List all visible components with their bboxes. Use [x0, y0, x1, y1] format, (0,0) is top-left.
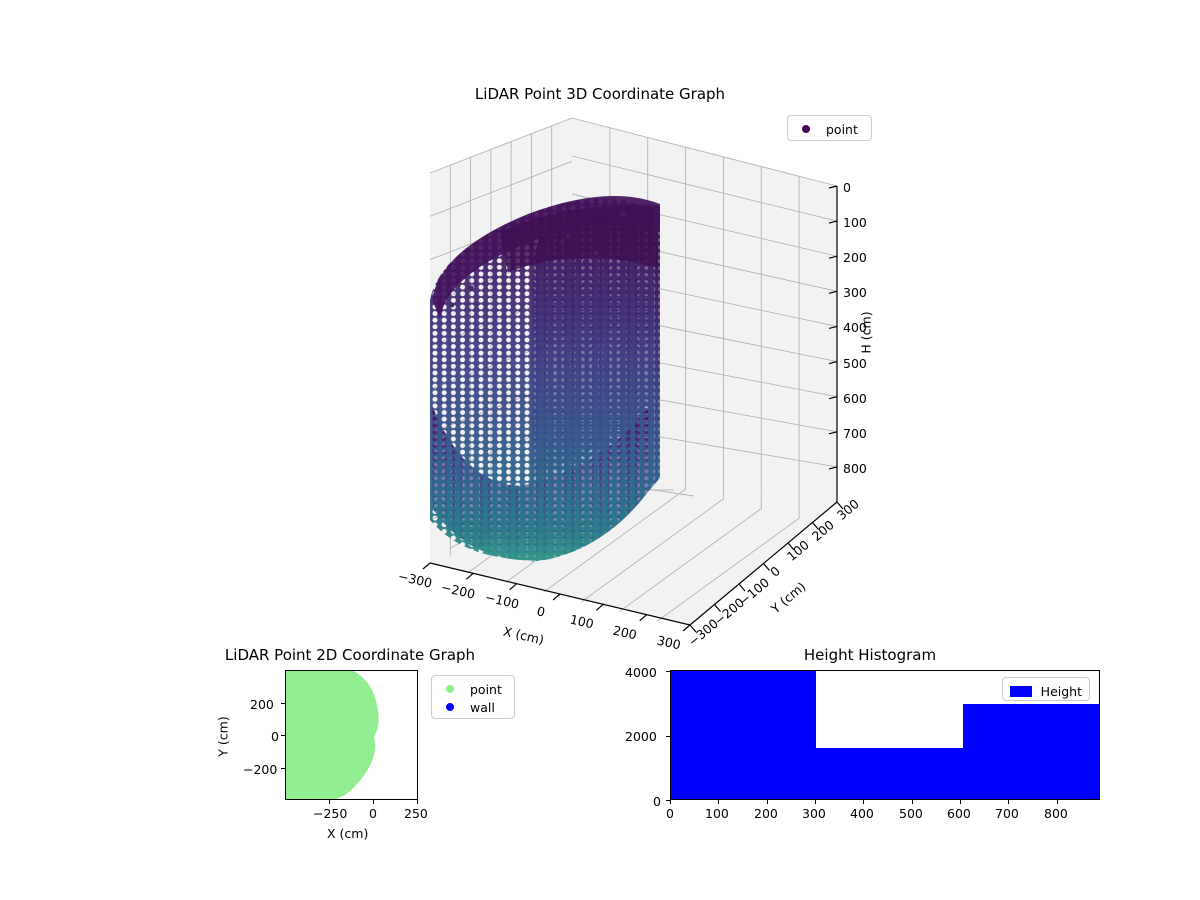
axis-title-y3d: Y (cm)	[768, 579, 809, 616]
hist-bar-2	[963, 704, 1100, 799]
height-patch-icon	[1010, 686, 1032, 697]
tick-y3d-5: 200	[809, 517, 837, 544]
legend-3d[interactable]: point	[787, 115, 872, 141]
legend-entry-wall-2d: wall	[439, 698, 507, 716]
tick-x3d-3: 0	[535, 603, 546, 619]
tickmark-xh-1	[718, 800, 719, 804]
tick-h3d-2: 200	[843, 250, 867, 265]
tick-h3d-7: 700	[843, 426, 867, 441]
legend-entry-point-3d: point	[795, 120, 864, 138]
matplotlib-figure: LiDAR Point 3D Coordinate Graph	[0, 0, 1200, 900]
tickmark-yh-0	[666, 800, 670, 801]
tick-y3d-6: 300	[834, 496, 862, 523]
tick-yh-2: 4000	[625, 665, 657, 680]
tick-y3d-3: 0	[767, 563, 783, 580]
tick-x3d-2: −100	[484, 589, 521, 611]
legend-label-point-2d: point	[470, 682, 502, 697]
tick-h3d-0: 0	[843, 180, 851, 195]
point-marker-icon	[795, 125, 817, 133]
tickmark-xh-6	[960, 800, 961, 804]
hist-bar-1	[816, 748, 963, 799]
legend-label-wall-2d: wall	[470, 700, 495, 715]
axis-title-y2d: Y (cm)	[216, 716, 231, 756]
tick-h3d-1: 100	[843, 215, 867, 230]
tick-xh-3: 300	[802, 806, 826, 821]
tickmark-x2d-1	[373, 800, 374, 804]
plot-title-3d: LiDAR Point 3D Coordinate Graph	[350, 85, 850, 103]
tickmark-y2d-0	[281, 703, 285, 704]
tick-xh-1: 100	[705, 806, 729, 821]
tickmark-xh-0	[670, 800, 671, 804]
legend-entry-point-2d: point	[439, 680, 507, 698]
tick-x2d-1: 0	[369, 806, 377, 821]
axis-title-h3d: H (cm)	[859, 311, 874, 353]
plot-title-histogram: Height Histogram	[725, 646, 1015, 664]
tick-xh-0: 0	[666, 806, 674, 821]
tickmark-xh-2	[767, 800, 768, 804]
legend-label-point-3d: point	[826, 122, 858, 137]
tick-y2d-0: −200	[243, 762, 277, 777]
legend-2d[interactable]: point wall	[431, 675, 515, 719]
point-cloud-3d	[430, 196, 660, 562]
tickmark-x2d-2	[417, 800, 418, 804]
tick-y3d-4: 100	[784, 537, 812, 564]
tick-x2d-0: −250	[313, 806, 347, 821]
tickmark-y2d-2	[281, 768, 285, 769]
tick-y2d-2: 200	[250, 697, 274, 712]
tick-y3d-2: −100	[736, 575, 772, 609]
tickmark-xh-8	[1057, 800, 1058, 804]
point-region-2d	[286, 671, 379, 800]
tickmark-xh-7	[1008, 800, 1009, 804]
tick-h3d-5: 500	[843, 356, 867, 371]
tick-x3d-1: −200	[440, 579, 477, 601]
tick-xh-6: 600	[947, 806, 971, 821]
tick-xh-4: 400	[850, 806, 874, 821]
tick-x3d-0: −300	[397, 568, 434, 590]
tick-xh-8: 800	[1044, 806, 1068, 821]
tickmark-xh-4	[863, 800, 864, 804]
legend-histogram[interactable]: Height	[1002, 677, 1090, 701]
tickmark-y2d-1	[281, 735, 285, 736]
tick-x2d-2: 250	[404, 806, 428, 821]
tick-x3d-6: 300	[656, 633, 683, 653]
axis-title-x2d: X (cm)	[327, 826, 368, 841]
tick-y2d-1: 0	[271, 729, 279, 744]
tick-yh-1: 2000	[625, 729, 657, 744]
tick-xh-7: 700	[995, 806, 1019, 821]
tick-x3d-5: 200	[612, 623, 639, 643]
plot-title-2d: LiDAR Point 2D Coordinate Graph	[205, 646, 495, 664]
tick-h3d-8: 800	[843, 461, 867, 476]
axis-title-x3d: X (cm)	[502, 624, 546, 648]
legend-label-height: Height	[1041, 684, 1082, 699]
plot-area-2d[interactable]	[285, 670, 418, 800]
tickmark-yh-1	[666, 736, 670, 737]
tick-xh-2: 200	[754, 806, 778, 821]
tickmark-yh-2	[666, 671, 670, 672]
tick-yh-0: 0	[653, 794, 661, 809]
tickmark-xh-5	[912, 800, 913, 804]
tick-h3d-3: 300	[843, 285, 867, 300]
tick-x3d-4: 100	[569, 612, 596, 632]
wall-marker-icon	[439, 703, 461, 711]
hist-bar-0	[671, 671, 816, 799]
point-marker-icon	[439, 685, 461, 693]
legend-entry-height: Height	[1010, 682, 1082, 700]
tickmark-x2d-0	[329, 800, 330, 804]
tick-h3d-6: 600	[843, 391, 867, 406]
tick-xh-5: 500	[899, 806, 923, 821]
tickmark-xh-3	[815, 800, 816, 804]
